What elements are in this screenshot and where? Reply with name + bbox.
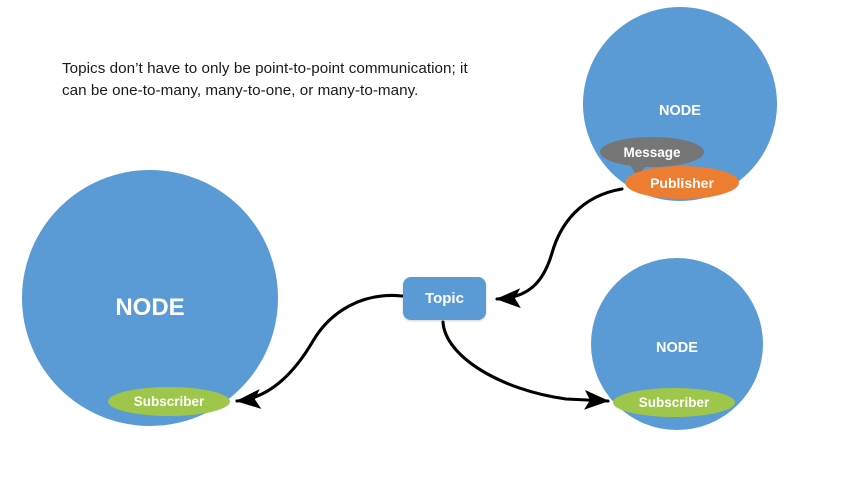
node-label-subscriber-bottom-right: NODE [591, 340, 763, 356]
subscriber-ellipse-bottom-right[interactable]: Subscriber [613, 388, 735, 417]
message-ellipse[interactable]: Message [600, 137, 704, 167]
arrow-publisher-to-topic [497, 189, 622, 299]
arrow-topic-to-subscriber-bottom-right [443, 322, 608, 401]
node-label-subscriber-left: NODE [22, 294, 278, 322]
caption-text: Topics don’t have to only be point-to-po… [62, 58, 482, 102]
slide-canvas: Topics don’t have to only be point-to-po… [0, 0, 854, 480]
subscriber-ellipse-left[interactable]: Subscriber [108, 387, 230, 416]
topic-box[interactable]: Topic [403, 277, 486, 320]
node-label-publisher: NODE [583, 103, 777, 119]
publisher-ellipse[interactable]: Publisher [625, 166, 739, 199]
